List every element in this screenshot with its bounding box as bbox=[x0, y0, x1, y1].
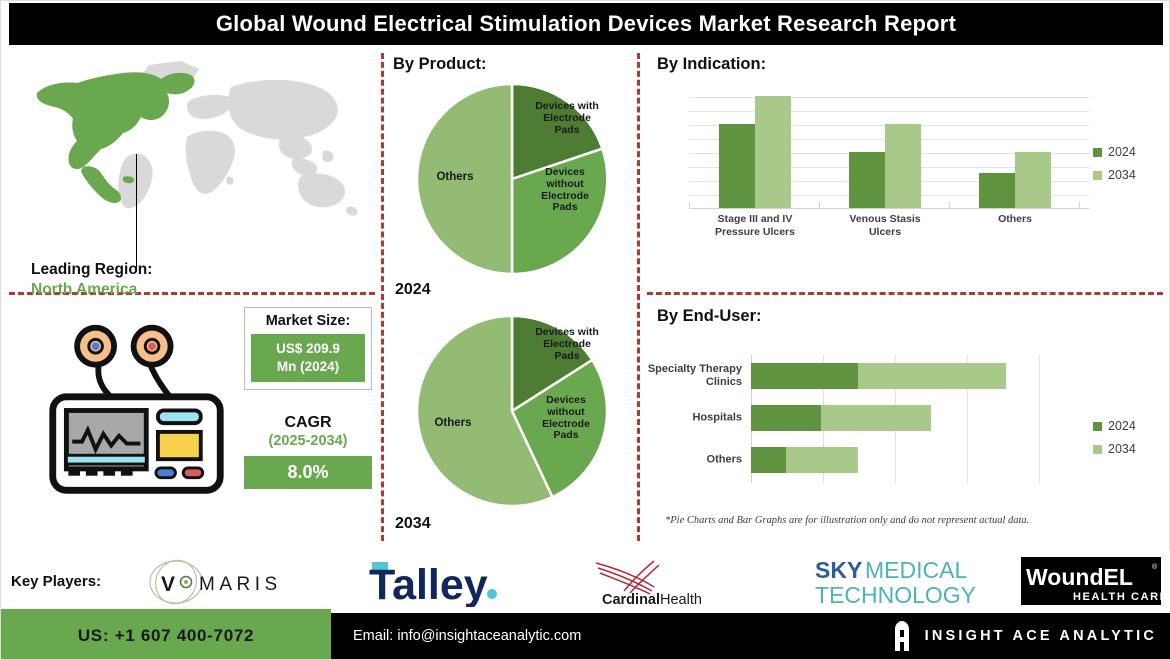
axis-tick bbox=[819, 202, 820, 209]
indication-plot-area bbox=[689, 97, 1089, 209]
cagr-card: CAGR (2025-2034) 8.0% bbox=[244, 414, 372, 489]
logo-cardinal-health: CardinalHealth bbox=[576, 557, 751, 607]
svg-text:SKY: SKY bbox=[815, 557, 862, 583]
brand-name: INSIGHT ACE ANALYTIC bbox=[925, 628, 1157, 644]
legend-swatch-2034-enduser bbox=[1093, 445, 1102, 454]
by-enduser-heading: By End-User: bbox=[657, 307, 762, 326]
key-players-bar: Key Players: V MARIS Talley bbox=[1, 549, 1170, 613]
bar-others-2034-h bbox=[786, 447, 858, 473]
bar-hospitals-2024 bbox=[751, 405, 821, 431]
legend-label-2034: 2034 bbox=[1108, 168, 1136, 182]
market-size-value: US$ 209.9 Mn (2024) bbox=[251, 334, 365, 382]
bar-label-others: Others bbox=[622, 454, 751, 467]
pie-2034-label-with-pads: Devices withElectrodePads bbox=[519, 327, 615, 362]
market-size-value-line1: US$ 209.9 bbox=[253, 340, 363, 358]
svg-text:Talley: Talley bbox=[369, 561, 488, 607]
world-map bbox=[31, 59, 371, 219]
logo-woundel: WoundEL ® HEALTH CARE bbox=[1021, 557, 1161, 605]
indication-legend: 2024 2034 bbox=[1093, 145, 1136, 191]
category-label-others: Others bbox=[955, 213, 1075, 226]
page-title: Global Wound Electrical Stimulation Devi… bbox=[216, 11, 956, 37]
pie-2034-label-others: Others bbox=[417, 417, 489, 430]
gridline bbox=[689, 111, 1089, 112]
bar-hospitals-2034 bbox=[821, 405, 931, 431]
pie-2024-label-with-pads: Devices withElectrodePads bbox=[519, 101, 615, 136]
map-leader-line bbox=[136, 154, 137, 269]
enduser-legend: 2024 2034 bbox=[1093, 419, 1136, 465]
legend-swatch-2024-enduser bbox=[1093, 422, 1102, 431]
svg-text:MARIS: MARIS bbox=[199, 574, 282, 595]
logo-vomaris: V MARIS bbox=[139, 559, 314, 605]
axis-line bbox=[689, 208, 1089, 209]
panel-charts-right: By Indication: bbox=[641, 49, 1170, 539]
legend-item-2024-enduser: 2024 bbox=[1093, 419, 1136, 433]
bar-row-others: Others bbox=[751, 447, 1061, 473]
key-players-label: Key Players: bbox=[11, 573, 101, 590]
pie-2034-year: 2034 bbox=[395, 515, 431, 533]
pie-2024-label-others: Others bbox=[419, 171, 491, 184]
legend-swatch-2034 bbox=[1093, 171, 1102, 180]
contact-footer: US: +1 607 400-7072 Email: info@insighta… bbox=[1, 613, 1170, 659]
bar-stage3-2034 bbox=[755, 96, 791, 208]
panel-by-product: By Product: Devices withElectrodePads De… bbox=[383, 49, 635, 539]
svg-text:WoundEL: WoundEL bbox=[1026, 564, 1133, 590]
bar-others-2024-h bbox=[751, 447, 786, 473]
legend-label-2024: 2024 bbox=[1108, 145, 1136, 159]
legend-item-2034: 2034 bbox=[1093, 168, 1136, 182]
electrical-stimulation-device-icon bbox=[39, 317, 234, 502]
phone-block: US: +1 607 400-7072 bbox=[1, 613, 331, 659]
bar-others-2024 bbox=[979, 173, 1015, 208]
axis-tick bbox=[689, 202, 690, 209]
by-indication-heading: By Indication: bbox=[657, 55, 766, 74]
email-text: Email: info@insightaceanalytic.com bbox=[353, 628, 581, 644]
pie-chart-2024: Devices withElectrodePads Deviceswithout… bbox=[403, 79, 621, 279]
by-product-heading: By Product: bbox=[393, 55, 487, 74]
bar-row-hospitals: Hospitals bbox=[751, 405, 1061, 431]
infographic-page: Global Wound Electrical Stimulation Devi… bbox=[0, 0, 1170, 658]
category-label-stage3: Stage III and IVPressure Ulcers bbox=[695, 213, 815, 238]
legend-label-2024-enduser: 2024 bbox=[1108, 419, 1136, 433]
bar-venous-2034 bbox=[885, 124, 921, 208]
insightace-logo-icon bbox=[891, 620, 913, 652]
pie-2024-label-without-pads: DeviceswithoutElectrodePads bbox=[521, 167, 609, 214]
bar-others-2034 bbox=[1015, 152, 1051, 208]
leading-region-block: Leading Region: North America bbox=[31, 261, 311, 299]
market-size-label: Market Size: bbox=[251, 313, 365, 329]
phone-number: US: +1 607 400-7072 bbox=[78, 626, 254, 646]
enduser-bar-chart: Specialty TherapyClinics Hospitals Other… bbox=[751, 355, 1061, 485]
bar-stage3-2024 bbox=[719, 124, 755, 208]
legend-item-2024: 2024 bbox=[1093, 145, 1136, 159]
legend-swatch-2024 bbox=[1093, 148, 1102, 157]
svg-text:®: ® bbox=[1152, 563, 1158, 571]
market-size-card: Market Size: US$ 209.9 Mn (2024) bbox=[244, 307, 372, 390]
svg-text:V: V bbox=[161, 573, 175, 596]
cagr-value: 8.0% bbox=[244, 456, 372, 489]
bar-specialty-2024 bbox=[751, 363, 858, 389]
leading-region-label: Leading Region: bbox=[31, 261, 311, 279]
cagr-years: (2025-2034) bbox=[244, 433, 372, 449]
brand-block: INSIGHT ACE ANALYTIC bbox=[891, 613, 1157, 659]
svg-text:TECHNOLOGY: TECHNOLOGY bbox=[815, 582, 976, 608]
legend-label-2034-enduser: 2034 bbox=[1108, 442, 1136, 456]
leading-region-value: North America bbox=[31, 281, 311, 299]
indication-column-chart: Stage III and IVPressure Ulcers Venous S… bbox=[689, 97, 1089, 232]
divider-vertical-right bbox=[637, 53, 640, 541]
svg-text:CardinalHealth: CardinalHealth bbox=[602, 592, 702, 607]
report-title-bar: Global Wound Electrical Stimulation Devi… bbox=[9, 3, 1163, 45]
bar-row-specialty: Specialty TherapyClinics bbox=[751, 363, 1061, 389]
bar-specialty-2034 bbox=[858, 363, 1006, 389]
market-size-value-line2: Mn (2024) bbox=[253, 358, 363, 376]
gridline bbox=[689, 97, 1089, 98]
cagr-label: CAGR bbox=[244, 414, 372, 432]
svg-text:HEALTH CARE: HEALTH CARE bbox=[1073, 591, 1161, 603]
legend-item-2034-enduser: 2034 bbox=[1093, 442, 1136, 456]
chart-disclaimer-note: *Pie Charts and Bar Graphs are for illus… bbox=[665, 515, 1145, 526]
bar-venous-2024 bbox=[849, 152, 885, 208]
axis-tick bbox=[1079, 202, 1080, 209]
axis-tick bbox=[949, 202, 950, 209]
bar-label-specialty: Specialty TherapyClinics bbox=[622, 363, 751, 389]
pie-chart-2034: Devices withElectrodePads Deviceswithout… bbox=[403, 311, 621, 511]
logo-talley: Talley bbox=[363, 555, 523, 607]
panel-region-and-metrics: Leading Region: North America bbox=[1, 49, 379, 539]
category-label-venous: Venous StasisUlcers bbox=[825, 213, 945, 238]
pie-2024-year: 2024 bbox=[395, 281, 431, 299]
svg-text:MEDICAL: MEDICAL bbox=[865, 557, 967, 583]
bar-label-hospitals: Hospitals bbox=[622, 412, 751, 425]
pie-2034-label-without-pads: DeviceswithoutElectrodePads bbox=[521, 395, 611, 442]
logo-sky-medical: SKY MEDICAL TECHNOLOGY bbox=[813, 554, 998, 608]
